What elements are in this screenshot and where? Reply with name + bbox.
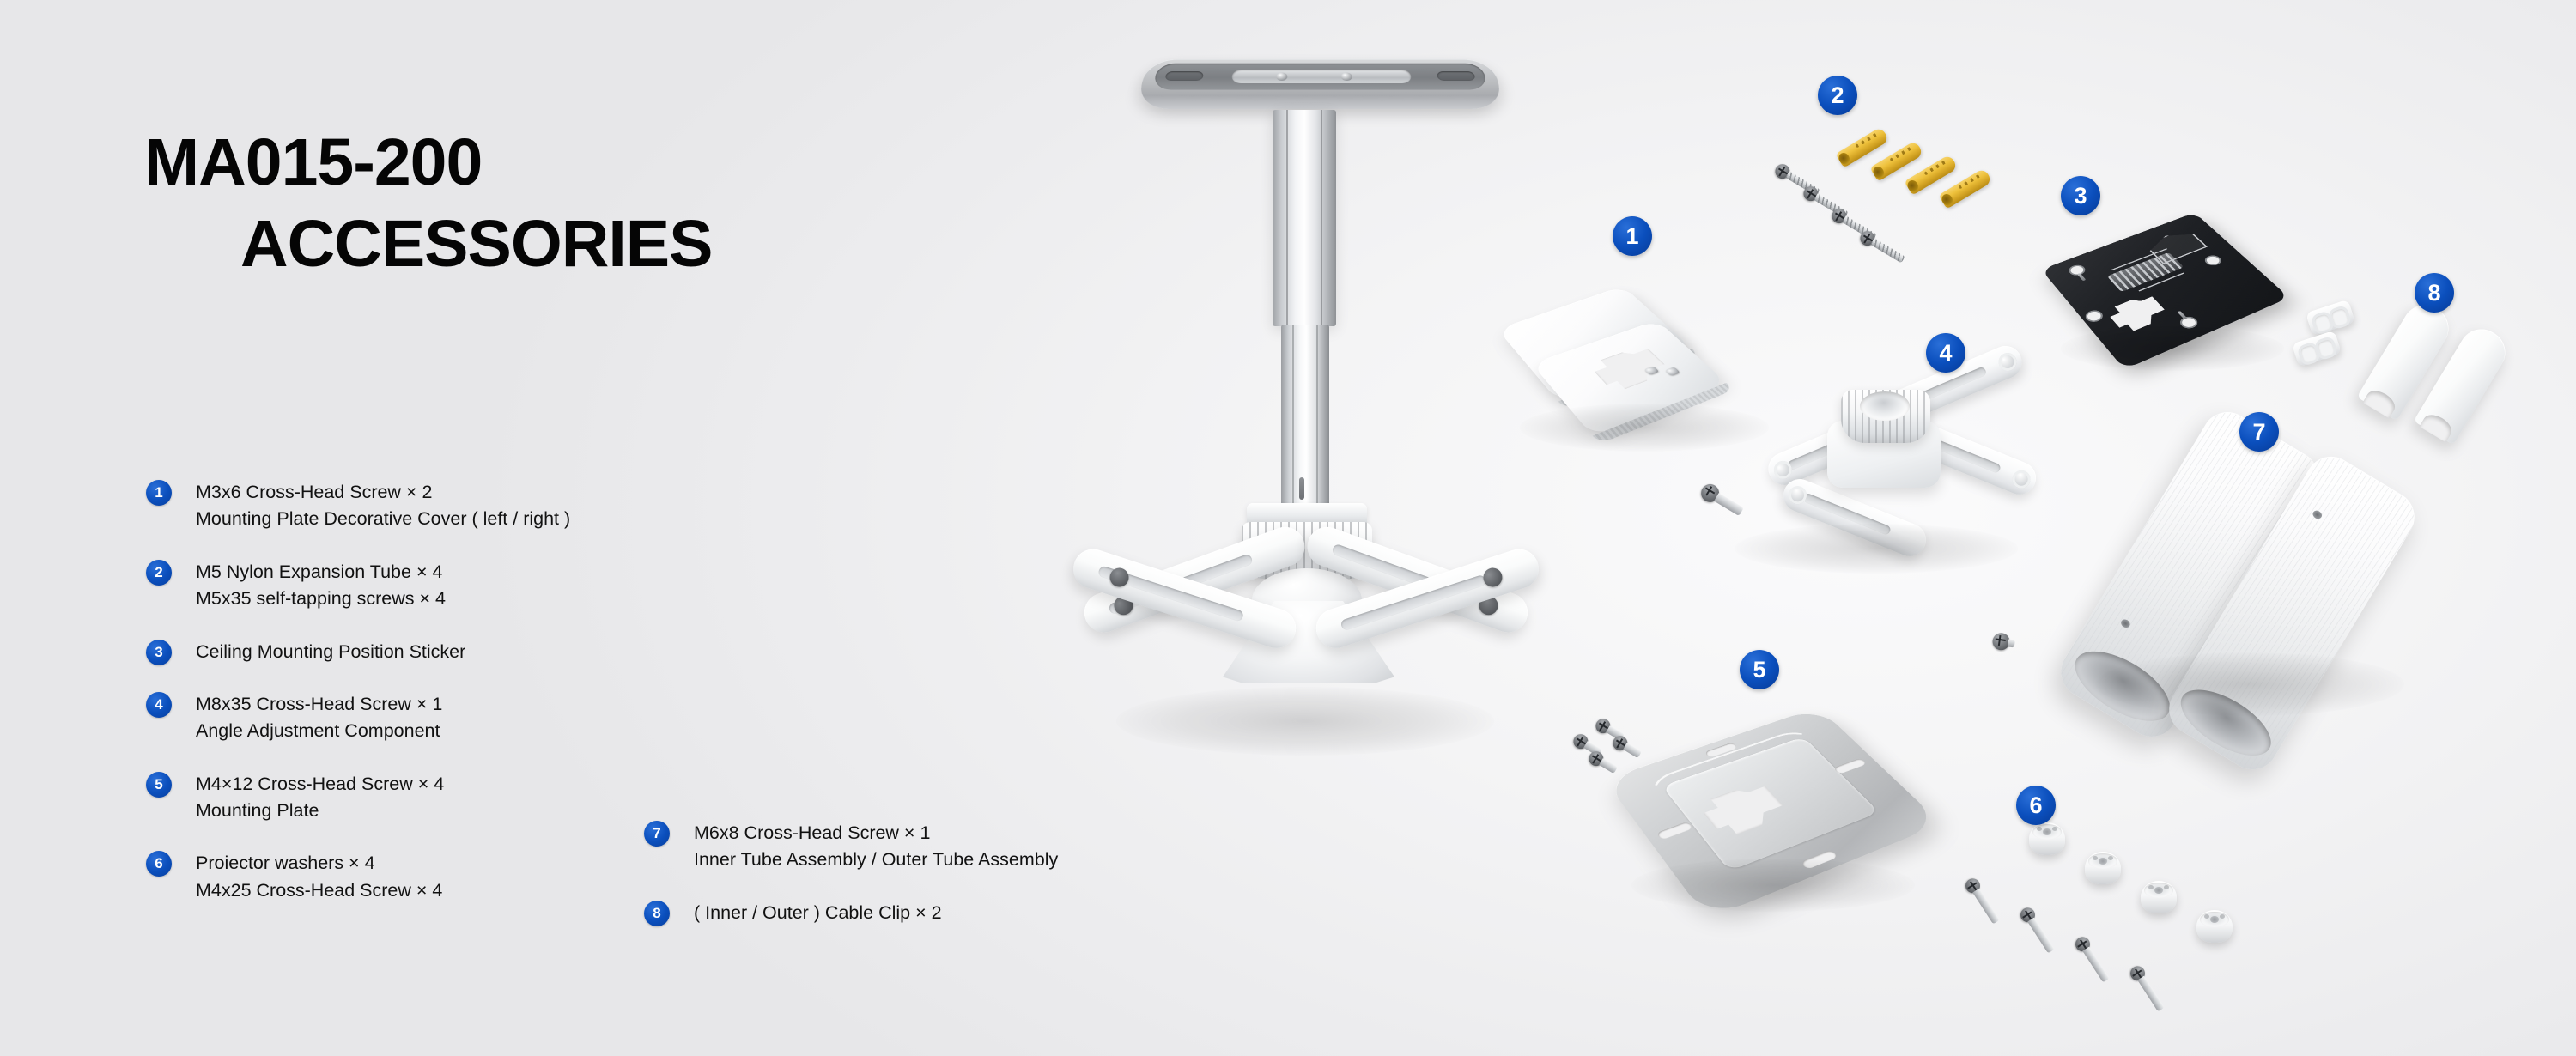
shadow-deco-cover: [1520, 404, 1769, 452]
legend-badge-3: 3: [146, 640, 172, 665]
product-model-title: MA015-200: [144, 129, 713, 197]
callout-7[interactable]: 7: [2239, 412, 2279, 452]
legend-text-5: M4×12 Cross-Head Screw × 4 Mounting Plat…: [196, 771, 444, 825]
sticker-hole: [2082, 308, 2105, 324]
projector-washer: [2141, 881, 2177, 913]
legend-badge-2: 2: [146, 560, 172, 586]
callout-8[interactable]: 8: [2415, 273, 2454, 313]
legend-line: M5x35 self-tapping screws × 4: [196, 586, 446, 612]
sticker-pin: [2077, 273, 2087, 281]
projector-washer: [2029, 822, 2065, 855]
legend-badge-5: 5: [146, 772, 172, 798]
legend-item-2: 2 M5 Nylon Expansion Tube × 4 M5x35 self…: [146, 559, 747, 613]
legend-line: Ceiling Mounting Position Sticker: [196, 639, 465, 665]
arm-eyelet: [2009, 468, 2032, 491]
legend-item-7: 7 M6x8 Cross-Head Screw × 1 Inner Tube A…: [644, 820, 1262, 874]
projector-washer: [2196, 910, 2233, 943]
page-title: MA015-200 ACCESSORIES: [144, 129, 713, 277]
callout-2[interactable]: 2: [1818, 76, 1857, 115]
legend-text-6: Proiector washers × 4 M4x25 Cross-Head S…: [196, 850, 442, 904]
legend-line: Mounting Plate: [196, 798, 444, 824]
legend-text-3: Ceiling Mounting Position Sticker: [196, 639, 465, 665]
washer-vent: [2037, 827, 2042, 831]
legend-line: M4x25 Cross-Head Screw × 4: [196, 877, 442, 904]
screw-shank: [1870, 238, 1905, 263]
legend-line: Inner Tube Assembly / Outer Tube Assembl…: [694, 847, 1058, 873]
legend-line: Mounting Plate Decorative Cover ( left /…: [196, 506, 570, 532]
legend-line: M3x6 Cross-Head Screw × 2: [196, 479, 570, 506]
washer-vent: [2052, 827, 2057, 831]
shadow-sticker: [2061, 326, 2284, 371]
legend-badge-6: 6: [146, 851, 172, 877]
arm-eyelet: [1996, 350, 2020, 374]
sticker-hole: [2202, 253, 2224, 267]
ceiling-plate-recess: [1153, 64, 1488, 90]
legend-line: M6x8 Cross-Head Screw × 1: [694, 820, 1058, 847]
cable-clip-outer: [2292, 331, 2342, 367]
legend-line: M5 Nylon Expansion Tube × 4: [196, 559, 446, 586]
shadow-main-mount: [1116, 687, 1494, 756]
screw-shank: [1599, 758, 1618, 774]
legend-line: M4×12 Cross-Head Screw × 4: [196, 771, 444, 798]
callout-1[interactable]: 1: [1613, 216, 1652, 256]
ceiling-bolt: [1341, 73, 1352, 82]
cable-clip-inner: [2306, 300, 2355, 337]
legend-item-4: 4 M8x35 Cross-Head Screw × 1 Angle Adjus…: [146, 691, 747, 745]
legend-item-1: 1 M3x6 Cross-Head Screw × 2 Mounting Pla…: [146, 479, 747, 533]
accessories-title: ACCESSORIES: [240, 210, 713, 278]
ceiling-plate-dimple: [1165, 71, 1204, 81]
screw-shank: [1623, 743, 1642, 758]
shadow-mounting-plate: [1631, 859, 1915, 912]
legend-badge-1: 1: [146, 480, 172, 506]
callout-5[interactable]: 5: [1740, 650, 1779, 689]
ceiling-mount-plate: [1137, 59, 1504, 109]
legend-item-5: 5 M4×12 Cross-Head Screw × 4 Mounting Pl…: [146, 771, 747, 825]
washer-vent: [2108, 856, 2113, 860]
callout-4[interactable]: 4: [1926, 333, 1965, 373]
legend-line: Angle Adjustment Component: [196, 718, 442, 744]
legend-badge-8: 8: [644, 901, 670, 926]
callout-6[interactable]: 6: [2016, 786, 2056, 825]
legend-badge-4: 4: [146, 692, 172, 718]
legend-badge-7: 7: [644, 821, 670, 847]
m3x6-screw: [1665, 367, 1680, 376]
decorative-cover-cutout: [1588, 344, 1672, 393]
legend-item-8: 8 ( Inner / Outer ) Cable Clip × 2: [644, 900, 1262, 926]
legend-line: M8x35 Cross-Head Screw × 1: [196, 691, 442, 718]
legend-item-3: 3 Ceiling Mounting Position Sticker: [146, 639, 747, 665]
arm-slot: [1340, 574, 1486, 632]
ceiling-plate-dimple: [1437, 71, 1475, 81]
washer-vent: [2148, 885, 2154, 889]
legend-text-1: M3x6 Cross-Head Screw × 2 Mounting Plate…: [196, 479, 570, 533]
legend-text-8: ( Inner / Outer ) Cable Clip × 2: [694, 900, 942, 926]
screw-shank: [2027, 918, 2055, 954]
callout-3[interactable]: 3: [2061, 176, 2100, 215]
angle-adjust-socket: [1860, 391, 1910, 421]
screw-shank: [2082, 947, 2110, 983]
sticker-drill-icon: [2107, 252, 2184, 292]
shadow-angle-adjust: [1735, 524, 2018, 574]
washer-vent: [2164, 885, 2169, 889]
legend-text-2: M5 Nylon Expansion Tube × 4 M5x35 self-t…: [196, 559, 446, 613]
legend-line: Proiector washers × 4: [196, 850, 442, 877]
legend-column-right: 7 M6x8 Cross-Head Screw × 1 Inner Tube A…: [644, 820, 1262, 926]
mount-outer-tube: [1273, 110, 1336, 326]
arm-screw-cap: [1481, 566, 1505, 590]
screw-shank: [2008, 639, 2015, 647]
legend-line: ( Inner / Outer ) Cable Clip × 2: [694, 900, 942, 926]
washer-vent: [2204, 914, 2209, 919]
ceiling-bolt: [1276, 73, 1287, 82]
screw-shank: [1972, 889, 2000, 925]
washer-vent: [2220, 914, 2225, 919]
projector-washer: [2085, 852, 2121, 884]
washer-vent: [2093, 856, 2098, 860]
shadow-tubes: [2095, 652, 2404, 716]
screw-shank: [2137, 976, 2165, 1012]
mount-inner-tube: [1281, 325, 1329, 515]
legend-text-4: M8x35 Cross-Head Screw × 1 Angle Adjustm…: [196, 691, 442, 745]
legend-text-7: M6x8 Cross-Head Screw × 1 Inner Tube Ass…: [694, 820, 1058, 874]
tube-lock-pin: [1299, 477, 1304, 500]
arm-eyelet: [1786, 483, 1809, 507]
ceiling-plate-slot: [1231, 70, 1412, 83]
